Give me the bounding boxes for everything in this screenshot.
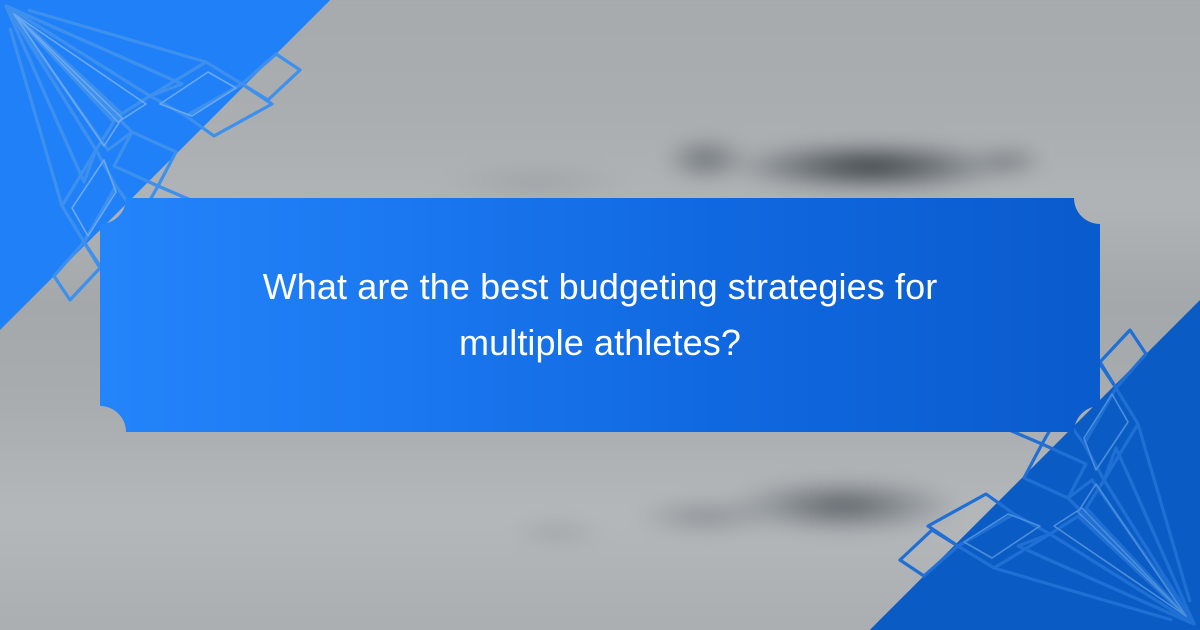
question-banner: What are the best budgeting strategies f…	[100, 198, 1100, 432]
screenshot-canvas: What are the best budgeting strategies f…	[0, 0, 1200, 630]
question-line-1: What are the best budgeting strategies f…	[263, 259, 938, 315]
question-text: What are the best budgeting strategies f…	[100, 198, 1100, 432]
question-line-2: multiple athletes?	[459, 315, 741, 371]
